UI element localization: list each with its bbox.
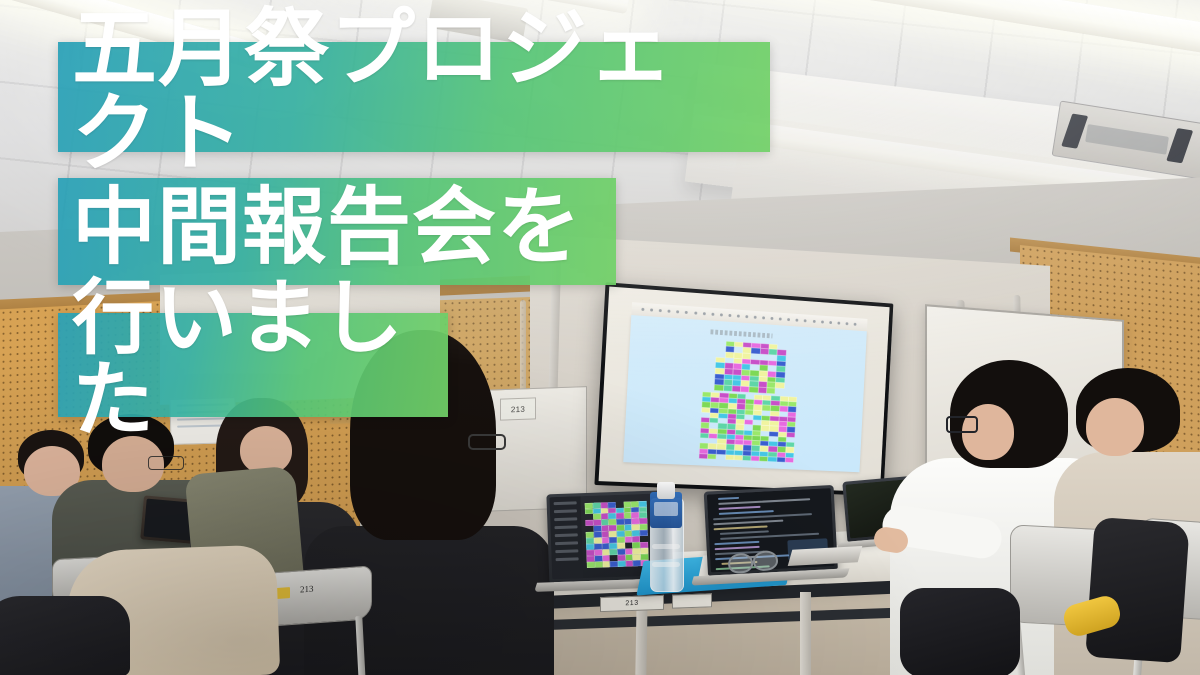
eyeglass-lens (752, 549, 779, 572)
toolbar-icon (771, 317, 774, 320)
grid-map-cell (761, 426, 770, 431)
presentation-slide (623, 315, 867, 472)
ac-vent-slot (1085, 124, 1169, 155)
toolbar-icon (737, 314, 740, 317)
grid-map-cell (719, 413, 728, 419)
grid-map-cell (709, 433, 718, 439)
grid-map-cell (610, 561, 618, 567)
grid-map-cell (625, 561, 633, 567)
grid-map-cell (751, 348, 760, 354)
toolbar-icon (720, 313, 723, 316)
toolbar-icon (668, 309, 671, 312)
grid-map-cell (602, 561, 610, 567)
toolbar-icon (702, 312, 705, 315)
editor-sidebar (549, 496, 583, 579)
grid-map-cell (769, 431, 778, 436)
room-number-label: 213 (500, 397, 536, 420)
grid-map-cell (710, 418, 719, 424)
title-line-3: 行いました (72, 278, 434, 442)
grid-map-cell (717, 449, 726, 454)
grid-map-upper (714, 340, 786, 394)
laptop-grid-map (585, 500, 649, 568)
code-line (719, 510, 774, 515)
eyeglasses-icon (148, 456, 184, 470)
grid-map-cell (734, 455, 743, 460)
grid-map-cell (749, 386, 758, 392)
grid-map-cell (741, 386, 750, 392)
slide-app-toolbar (631, 302, 867, 331)
toolbar-icon (659, 309, 662, 312)
grid-map-cell (742, 455, 751, 460)
slide-title-placeholder (711, 330, 773, 338)
desk-tag-label-2 (672, 593, 712, 608)
code-line (718, 497, 739, 500)
grid-map-cell (758, 387, 767, 393)
grid-map-cell (708, 454, 717, 459)
toolbar-icon (728, 314, 731, 317)
grid-map-cell (744, 420, 753, 426)
toolbar-icon (804, 319, 807, 322)
projector-screen (594, 282, 893, 496)
code-line (720, 530, 769, 535)
grid-map-cell (618, 561, 626, 567)
projector-screen-surface (599, 287, 890, 493)
toolbar-icon (676, 310, 679, 313)
draped-coat-dark (0, 596, 130, 675)
grid-map-cell (776, 457, 785, 462)
slide-grid-map (699, 339, 800, 462)
toolbar-icon (685, 311, 688, 314)
toolbar-icon (641, 308, 644, 311)
grid-map-cell (786, 432, 795, 437)
grid-map-cell (702, 407, 711, 413)
eyeglasses-icon (946, 416, 978, 433)
grid-map-cell (753, 415, 762, 421)
grid-map-cell (768, 360, 777, 366)
person-head (1086, 398, 1144, 456)
toolbar-icon (762, 316, 765, 319)
grid-map-cell (745, 409, 754, 415)
grid-map-cell (725, 352, 734, 358)
grid-map-cell (759, 456, 768, 461)
toolbar-icon (779, 317, 782, 320)
bag-under-desk (900, 588, 1020, 675)
grid-map-cell (625, 537, 633, 543)
toolbar-icon (812, 320, 815, 323)
toolbar-icon (694, 311, 697, 314)
grid-map-cell (734, 341, 743, 347)
grid-map-cell (586, 520, 594, 526)
grid-map-cell (587, 562, 595, 568)
grid-map-cell (585, 508, 593, 514)
grid-map-cell (751, 359, 760, 365)
grid-map-cell (767, 387, 776, 393)
toolbar-icon (837, 321, 840, 324)
grid-map-lower (699, 392, 797, 463)
grid-map-cell (640, 530, 648, 536)
bottle-cap (657, 482, 675, 499)
toolbar-icon (821, 320, 824, 323)
desk-leg-2 (800, 592, 811, 675)
toolbar-icon (796, 318, 799, 321)
screenshot-root: 213 213 (0, 0, 1200, 675)
grid-map-cell (699, 453, 708, 459)
title-band-3: 行いました (58, 313, 448, 417)
grid-map-cell (779, 406, 788, 411)
grid-map-cell (751, 456, 760, 461)
toolbar-icon (711, 312, 714, 315)
toolbar-icon (854, 323, 857, 326)
grid-map-cell (769, 349, 778, 355)
grid-map-cell (760, 348, 769, 354)
toolbar-icon (845, 322, 848, 325)
code-line (715, 546, 760, 550)
bottle-ring (652, 544, 680, 549)
code-line (719, 506, 761, 510)
grid-map-cell (610, 549, 618, 555)
grid-map-cell (633, 560, 641, 566)
desk-tag-label: 213 (600, 595, 664, 612)
title-band-1: 五月祭プロジェクト (58, 42, 770, 152)
code-line (713, 520, 783, 526)
code-line (714, 525, 768, 530)
bottle-ring (652, 562, 680, 567)
toolbar-icon (829, 321, 832, 324)
title-band-2: 中間報告会を (58, 178, 616, 285)
grid-map-cell (732, 385, 741, 391)
toolbar-icon (650, 308, 653, 311)
grid-map-cell (768, 456, 777, 461)
chair-number-label: 213 (300, 584, 314, 595)
toolbar-icon (754, 315, 757, 318)
title-line-1: 五月祭プロジェクト (72, 7, 756, 177)
grid-map-cell (785, 457, 794, 462)
grid-map-cell (725, 455, 734, 460)
grid-map-cell (723, 385, 732, 391)
water-bottle (650, 482, 682, 590)
grid-map-cell (700, 433, 709, 439)
grid-map-cell (776, 383, 785, 389)
title-line-2: 中間報告会を (72, 185, 582, 269)
grid-map-cell (714, 384, 723, 390)
eyeglasses-icon (468, 434, 506, 450)
backpack-right (1085, 517, 1190, 663)
toolbar-icon (745, 315, 748, 318)
grid-map-cell (595, 562, 603, 568)
grid-map-cell (762, 405, 771, 411)
toolbar-icon (787, 318, 790, 321)
code-line (714, 541, 759, 545)
